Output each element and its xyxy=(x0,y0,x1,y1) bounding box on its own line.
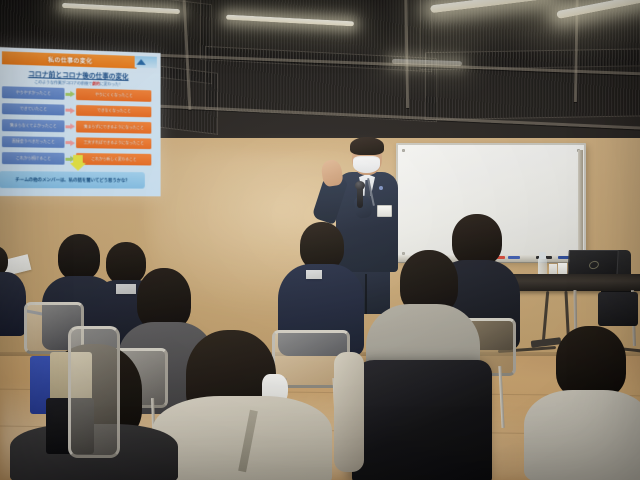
seminar-room-scene: 私の仕事の変化 コロナ前とコロナ後の仕事の変化 このような作業がコロナの前後で劇… xyxy=(0,0,640,480)
laptop-logo-icon xyxy=(588,260,600,271)
row-arrow-icon xyxy=(65,140,75,146)
slide-row: 直接会うべきだったこと 工夫すればできるようになったこと xyxy=(2,136,151,153)
blue-marker xyxy=(508,256,520,259)
presenter-hair xyxy=(350,137,384,155)
presenter-lapel-pin xyxy=(379,186,383,190)
row-arrow-icon xyxy=(65,123,75,129)
slide-row: やりやすかったこと やりにくくなったこと xyxy=(2,86,151,105)
slide-sub-after: に変わった！ xyxy=(100,81,123,87)
presenter-face-mask xyxy=(353,156,380,173)
chair-back-foreground-right xyxy=(334,352,364,472)
chair-far-right xyxy=(598,292,638,326)
row-arrow-icon xyxy=(65,91,75,97)
after-box: やりにくくなったこと xyxy=(76,88,151,101)
presenter-name-badge xyxy=(377,205,392,217)
before-box: 集まらなくてよかったこと xyxy=(2,119,65,132)
slide-row: できていたこと できなくなったこと xyxy=(2,103,151,121)
row-arrow-icon xyxy=(65,107,75,113)
slide-title: 私の仕事の変化 xyxy=(48,55,92,65)
coat-draped-on-chair xyxy=(352,360,492,480)
slide-sub-before: このような作業がコロナの前後で xyxy=(34,79,92,86)
before-box: 直接会うべきだったこと xyxy=(2,136,65,148)
after-box: できなくなったこと xyxy=(76,104,151,117)
chair-foreground-left xyxy=(68,326,120,458)
slide-title-bar: 私の仕事の変化 xyxy=(2,51,137,68)
down-arrow-icon xyxy=(68,155,87,171)
before-box: これから続けること xyxy=(2,152,65,164)
slide-row: 集まらなくてよかったこと 集まらずにできるようになったこと xyxy=(2,119,151,136)
slide-bottom-banner: チームの他のメンバーは、私の話を聞いてどう思うかな？ xyxy=(0,171,145,189)
before-box: やりやすかったこと xyxy=(2,86,65,99)
after-box: 集まらずにできるようになったこと xyxy=(76,121,151,134)
slide-corner-decoration xyxy=(135,56,157,68)
after-box: 工夫すればできるようになったこと xyxy=(76,137,151,149)
microphone-icon xyxy=(355,181,365,190)
before-box: できていたこと xyxy=(2,103,65,116)
whiteboard-right-edge xyxy=(578,150,583,258)
projected-slide: 私の仕事の変化 コロナ前とコロナ後の仕事の変化 このような作業がコロナの前後で劇… xyxy=(0,47,161,196)
slide-sub-accent: 劇的 xyxy=(92,81,100,86)
